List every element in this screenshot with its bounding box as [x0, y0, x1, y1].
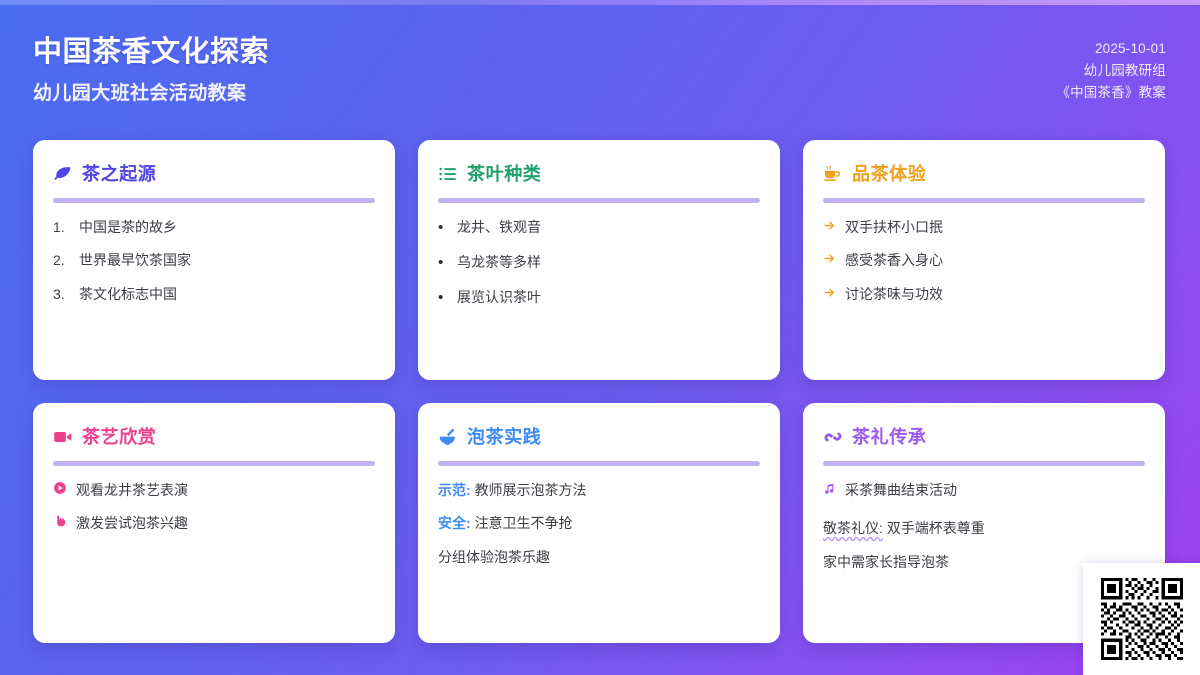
arrow-right-icon	[823, 219, 836, 232]
list-item: 感受茶香入身心	[823, 250, 1145, 270]
video-camera-icon	[53, 427, 73, 447]
card-tea-art-appreciation[interactable]: 茶艺欣赏 观看龙井茶艺表演 激发尝试泡茶兴趣	[33, 403, 395, 643]
item-label: 示范:	[438, 482, 471, 498]
list-item-text: 双手扶杯小口抿	[845, 217, 1145, 237]
page-title: 中国茶香文化探索	[33, 34, 269, 70]
meta-author: 幼儿园教研组	[1056, 60, 1166, 82]
list-item: • 龙井、铁观音	[438, 217, 760, 239]
list-item: 敬茶礼仪: 双手端杯表尊重	[823, 518, 1145, 538]
list-item: 观看龙井茶艺表演	[53, 480, 375, 500]
item-label-underlined: 敬茶礼仪:	[823, 520, 883, 536]
meta-date: 2025-10-01	[1056, 38, 1166, 60]
card-item-list: 示范: 教师展示泡茶方法 安全: 注意卫生不争抢 分组体验泡茶乐趣	[438, 480, 760, 567]
list-item: 双手扶杯小口抿	[823, 217, 1145, 237]
card-item-list: 采茶舞曲结束活动 敬茶礼仪: 双手端杯表尊重 家中需家长指导泡茶	[823, 480, 1145, 572]
list-item: 2. 世界最早饮茶国家	[53, 250, 375, 270]
item-label: 安全:	[438, 515, 471, 531]
card-title: 茶叶种类	[467, 165, 541, 183]
card-header: 茶礼传承	[823, 424, 1145, 450]
card-divider	[438, 461, 760, 466]
list-item-text: 展览认识茶叶	[457, 287, 760, 307]
list-item-text: 注意卫生不争抢	[475, 515, 573, 531]
card-item-list: 观看龙井茶艺表演 激发尝试泡茶兴趣	[53, 480, 375, 534]
card-title: 茶之起源	[82, 165, 156, 183]
list-item-text: 茶文化标志中国	[79, 284, 375, 304]
list-item: 激发尝试泡茶兴趣	[53, 513, 375, 533]
arrow-right-icon	[823, 252, 836, 265]
card-item-list: 双手扶杯小口抿 感受茶香入身心 讨论茶味与功效	[823, 217, 1145, 304]
teacup-icon	[823, 164, 843, 184]
list-item: 分组体验泡茶乐趣	[438, 547, 760, 567]
list-item: 示范: 教师展示泡茶方法	[438, 480, 760, 500]
card-header: 品茶体验	[823, 161, 1145, 187]
leaf-icon	[53, 164, 73, 184]
list-item-text: 中国是茶的故乡	[79, 217, 375, 237]
list-item-text: 激发尝试泡茶兴趣	[76, 513, 375, 533]
bullet-marker: •	[438, 287, 448, 309]
list-item: • 乌龙茶等多样	[438, 252, 760, 274]
list-item-text: 讨论茶味与功效	[845, 284, 1145, 304]
list-item: 1. 中国是茶的故乡	[53, 217, 375, 237]
card-divider	[823, 198, 1145, 203]
card-brewing-practice[interactable]: 泡茶实践 示范: 教师展示泡茶方法 安全: 注意卫生不争抢 分组体验泡茶乐趣	[418, 403, 780, 643]
card-title: 茶礼传承	[852, 428, 926, 446]
list-item-text: 教师展示泡茶方法	[475, 482, 587, 498]
list-item: 安全: 注意卫生不争抢	[438, 513, 760, 533]
list-item-text: 采茶舞曲结束活动	[845, 480, 1145, 500]
meta-document: 《中国茶香》教案	[1056, 82, 1166, 104]
card-item-list: 1. 中国是茶的故乡 2. 世界最早饮茶国家 3. 茶文化标志中国	[53, 217, 375, 304]
card-grid: 茶之起源 1. 中国是茶的故乡 2. 世界最早饮茶国家 3. 茶文化标志中国	[33, 140, 1167, 643]
card-title: 品茶体验	[852, 165, 926, 183]
list-item: 采茶舞曲结束活动	[823, 480, 1145, 500]
list-item: • 展览认识茶叶	[438, 287, 760, 309]
card-header: 茶艺欣赏	[53, 424, 375, 450]
card-item-list: • 龙井、铁观音 • 乌龙茶等多样 • 展览认识茶叶	[438, 217, 760, 308]
list-item-text: 双手端杯表尊重	[887, 520, 985, 536]
page-subtitle: 幼儿园大班社会活动教案	[33, 82, 269, 107]
list-item-text: 乌龙茶等多样	[457, 252, 760, 272]
card-title: 茶艺欣赏	[82, 428, 156, 446]
card-title: 泡茶实践	[467, 428, 541, 446]
bullet-marker: •	[438, 252, 448, 274]
list-item-text: 观看龙井茶艺表演	[76, 480, 375, 500]
card-divider	[438, 198, 760, 203]
card-tea-types[interactable]: 茶叶种类 • 龙井、铁观音 • 乌龙茶等多样 • 展览认识茶叶	[418, 140, 780, 380]
card-tea-origin[interactable]: 茶之起源 1. 中国是茶的故乡 2. 世界最早饮茶国家 3. 茶文化标志中国	[33, 140, 395, 380]
mortar-pestle-icon	[438, 427, 458, 447]
ordered-marker: 2.	[53, 250, 70, 270]
qr-code	[1098, 575, 1186, 663]
ordered-marker: 3.	[53, 284, 70, 304]
arrow-right-icon	[823, 286, 836, 299]
list-item: 3. 茶文化标志中国	[53, 284, 375, 304]
card-header: 泡茶实践	[438, 424, 760, 450]
bullet-marker: •	[438, 217, 448, 239]
list-icon	[438, 164, 458, 184]
list-item-text: 分组体验泡茶乐趣	[438, 549, 550, 565]
header-title-block: 中国茶香文化探索 幼儿园大班社会活动教案	[33, 28, 269, 107]
header-meta-block: 2025-10-01 幼儿园教研组 《中国茶香》教案	[1056, 28, 1166, 104]
card-header: 茶之起源	[53, 161, 375, 187]
card-divider	[823, 461, 1145, 466]
card-tasting-experience[interactable]: 品茶体验 双手扶杯小口抿 感受茶香入身心 讨论茶味与功效	[803, 140, 1165, 380]
music-note-icon	[823, 482, 836, 495]
list-item-text: 家中需家长指导泡茶	[823, 554, 949, 570]
card-header: 茶叶种类	[438, 161, 760, 187]
slide-header: 中国茶香文化探索 幼儿园大班社会活动教案 2025-10-01 幼儿园教研组 《…	[0, 0, 1200, 128]
hand-point-up-icon	[53, 514, 67, 528]
hands-gesture-icon	[823, 427, 843, 447]
list-item-text: 感受茶香入身心	[845, 250, 1145, 270]
ordered-marker: 1.	[53, 217, 70, 237]
card-divider	[53, 461, 375, 466]
top-edge-accent	[0, 0, 1200, 5]
list-item-text: 龙井、铁观音	[457, 217, 760, 237]
list-item-text: 世界最早饮茶国家	[79, 250, 375, 270]
list-item: 讨论茶味与功效	[823, 284, 1145, 304]
qr-code-panel[interactable]	[1083, 563, 1200, 675]
card-divider	[53, 198, 375, 203]
play-circle-icon	[53, 481, 67, 495]
